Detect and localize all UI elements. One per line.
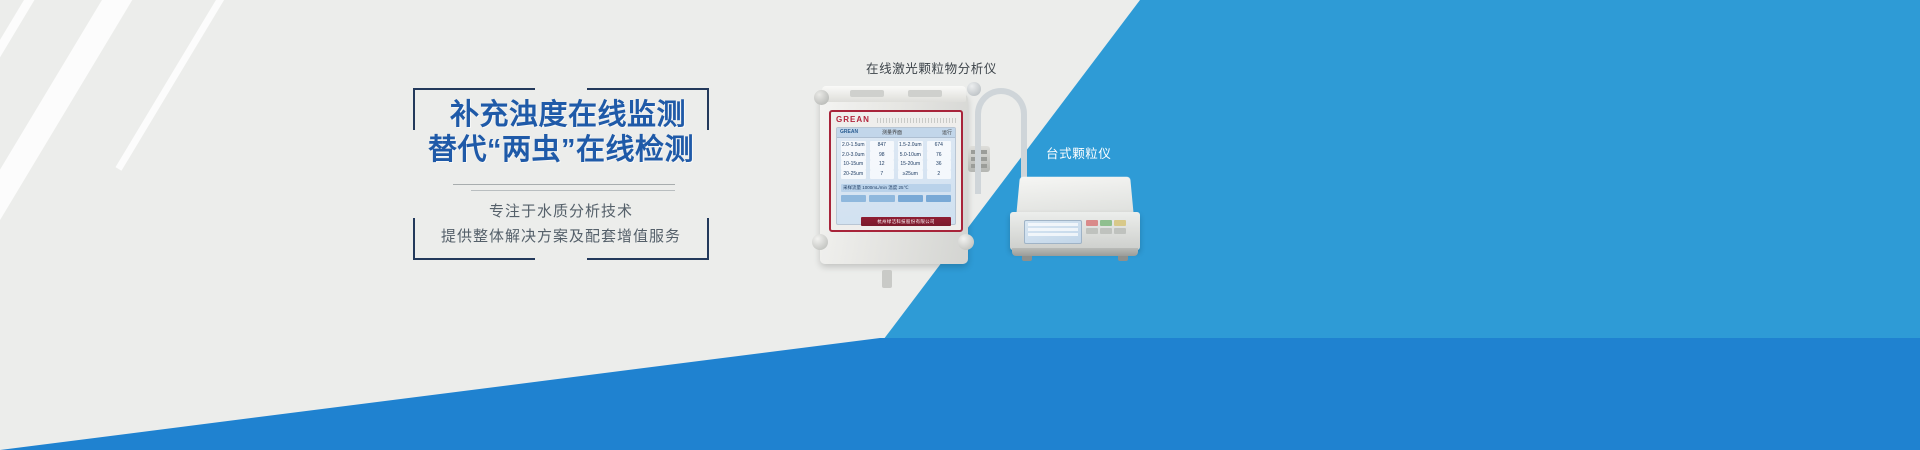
bench-key [1086, 220, 1098, 226]
readout-cell: 12 [870, 160, 895, 170]
readout-cell: ≥25um [898, 170, 923, 180]
divider-line-2 [471, 190, 675, 191]
analyzer-front-panel: GREAN GREAN 测量界面 运行 2.0-1.5um 847 1.5-2.… [829, 110, 963, 232]
online-analyzer-device: GREAN GREAN 测量界面 运行 2.0-1.5um 847 1.5-2.… [812, 84, 980, 274]
readout-row: 10-15um 12 15-20um 36 [841, 160, 951, 170]
display-heading: 测量界面 [882, 129, 902, 136]
bench-control-panel [1010, 212, 1140, 250]
display-status-bar: 采样流量 1000mL/min 温度 25℃ [841, 184, 951, 192]
subtitle-line-2: 提供整体解决方案及配套增值服务 [413, 225, 709, 250]
bench-display-line [1028, 223, 1078, 226]
panel-hatch-pattern [877, 118, 957, 123]
analyzer-top-tab [908, 90, 942, 97]
display-readout-grid: 2.0-1.5um 847 1.5-2.0um 674 2.0-3.0um 98… [837, 138, 955, 182]
headline-line-2: 替代“两虫”在线检测 [405, 133, 717, 168]
display-brand: GREAN [840, 129, 858, 135]
readout-cell: 98 [870, 151, 895, 161]
divider-group [453, 184, 675, 191]
subtitle-group: 专注于水质分析技术 提供整体解决方案及配套增值服务 [413, 200, 709, 250]
bench-key [1100, 220, 1112, 226]
bench-key [1086, 228, 1098, 234]
label-online-analyzer: 在线激光颗粒物分析仪 [866, 58, 997, 77]
readout-cell: 7 [870, 170, 895, 180]
readout-cell: 10-15um [841, 160, 866, 170]
bench-foot [1022, 256, 1032, 261]
readout-cell: 847 [870, 141, 895, 151]
bench-display-line [1028, 233, 1078, 236]
divider-line-1 [453, 184, 675, 185]
readout-cell: 2.0-1.5um [841, 141, 866, 151]
analyzer-top-cover [822, 86, 966, 102]
analyzer-knob [814, 90, 829, 105]
display-title-bar: GREAN 测量界面 运行 [837, 128, 955, 138]
label-bench-analyzer: 台式颗粒仪 [1046, 143, 1112, 162]
bench-analyzer-device [1010, 172, 1140, 262]
readout-cell: 2 [927, 170, 952, 180]
subtitle-line-1: 专注于水质分析技术 [413, 200, 709, 225]
bench-display [1024, 220, 1082, 244]
headline-line-1: 补充浊度在线监测 [405, 98, 717, 133]
display-button [841, 195, 866, 202]
readout-cell: 20-25um [841, 170, 866, 180]
readout-cell: 15-20um [898, 160, 923, 170]
readout-cell: 36 [927, 160, 952, 170]
analyzer-bottom-port [882, 270, 892, 288]
readout-row: 20-25um 7 ≥25um 2 [841, 170, 951, 180]
readout-row: 2.0-1.5um 847 1.5-2.0um 674 [841, 141, 951, 151]
readout-cell: 1.5-2.0um [898, 141, 923, 151]
bench-key [1114, 220, 1126, 226]
analyzer-top-tab [850, 90, 884, 97]
brand-logo: GREAN [836, 115, 870, 124]
display-button [869, 195, 894, 202]
headline-panel: 补充浊度在线监测 替代“两虫”在线检测 专注于水质分析技术 提供整体解决方案及配… [413, 88, 709, 260]
display-button [898, 195, 923, 202]
readout-cell: 674 [927, 141, 952, 151]
manufacturer-text: 杭州绿洁科技股份有限公司 [861, 217, 951, 226]
tube-cap [967, 82, 981, 96]
bench-display-line [1028, 228, 1078, 231]
manufacturer-plate: 杭州绿洁科技股份有限公司 [861, 217, 951, 226]
promo-banner: 补充浊度在线监测 替代“两虫”在线检测 专注于水质分析技术 提供整体解决方案及配… [0, 0, 1920, 450]
readout-row: 2.0-3.0um 98 5.0-10um 76 [841, 151, 951, 161]
analyzer-mount-lug [958, 234, 974, 250]
bench-keypad [1086, 220, 1130, 234]
display-button-row [841, 195, 951, 202]
headline: 补充浊度在线监测 替代“两虫”在线检测 [405, 98, 717, 169]
analyzer-display: GREAN 测量界面 运行 2.0-1.5um 847 1.5-2.0um 67… [836, 127, 956, 225]
bench-key [1100, 228, 1112, 234]
status-bar-text: 采样流量 1000mL/min 温度 25℃ [843, 185, 909, 191]
bench-key [1114, 228, 1126, 234]
analyzer-mount-lug [812, 234, 828, 250]
readout-cell: 76 [927, 151, 952, 161]
readout-cell: 5.0-10um [898, 151, 923, 161]
display-button [926, 195, 951, 202]
display-status: 运行 [942, 129, 952, 136]
readout-cell: 2.0-3.0um [841, 151, 866, 161]
bench-foot [1118, 256, 1128, 261]
bench-base [1012, 248, 1138, 256]
